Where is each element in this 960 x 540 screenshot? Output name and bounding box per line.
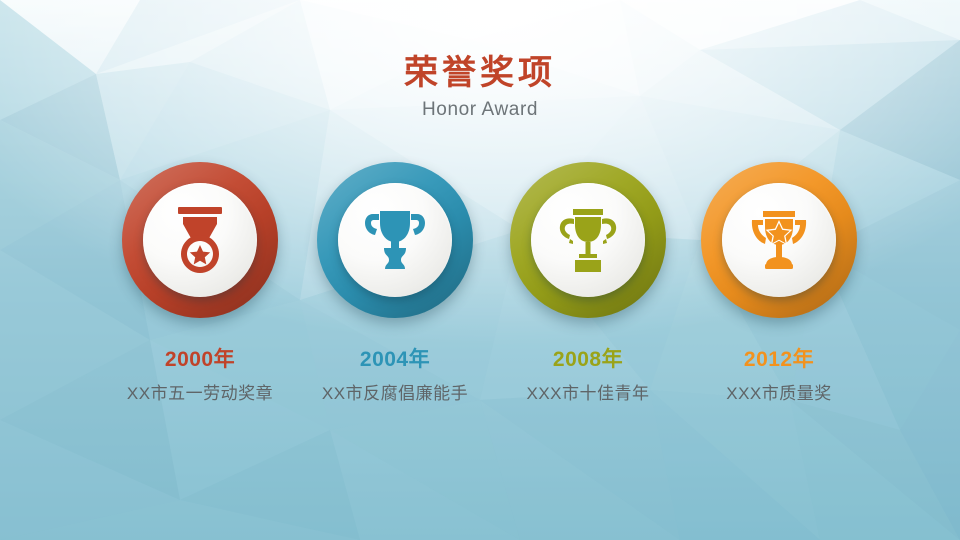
award-year: 2012年 <box>683 347 875 373</box>
medal-star-icon <box>169 207 231 273</box>
award-item-2004[interactable]: 2004年 XX市反腐倡廉能手 <box>299 162 491 406</box>
award-item-2012[interactable]: 2012年 XXX市质量奖 <box>683 162 875 406</box>
award-description: XX市五一劳动奖章 <box>104 382 296 406</box>
page-subtitle: Honor Award <box>0 96 960 124</box>
award-badge-2012[interactable] <box>701 162 857 318</box>
award-description: XX市反腐倡廉能手 <box>299 382 491 406</box>
award-year: 2008年 <box>492 347 684 373</box>
badge-disc <box>531 183 645 297</box>
awards-row: 2000年 XX市五一劳动奖章 <box>0 162 960 422</box>
trophy-plaque-icon <box>556 207 620 273</box>
badge-disc <box>143 183 257 297</box>
badge-disc <box>722 183 836 297</box>
award-badge-2000[interactable] <box>122 162 278 318</box>
award-badge-2008[interactable] <box>510 162 666 318</box>
trophy-star-icon <box>746 209 812 271</box>
award-year: 2004年 <box>299 347 491 373</box>
page-title: 荣誉奖项 <box>0 52 960 94</box>
award-item-2008[interactable]: 2008年 XXX市十佳青年 <box>492 162 684 406</box>
trophy-cup-icon <box>363 209 427 271</box>
slide-canvas: 荣誉奖项 Honor Award <box>0 0 960 540</box>
award-description: XXX市十佳青年 <box>492 382 684 406</box>
badge-disc <box>338 183 452 297</box>
award-item-2000[interactable]: 2000年 XX市五一劳动奖章 <box>104 162 296 406</box>
award-description: XXX市质量奖 <box>683 382 875 406</box>
award-badge-2004[interactable] <box>317 162 473 318</box>
award-year: 2000年 <box>104 347 296 373</box>
slide-header: 荣誉奖项 Honor Award <box>0 52 960 124</box>
